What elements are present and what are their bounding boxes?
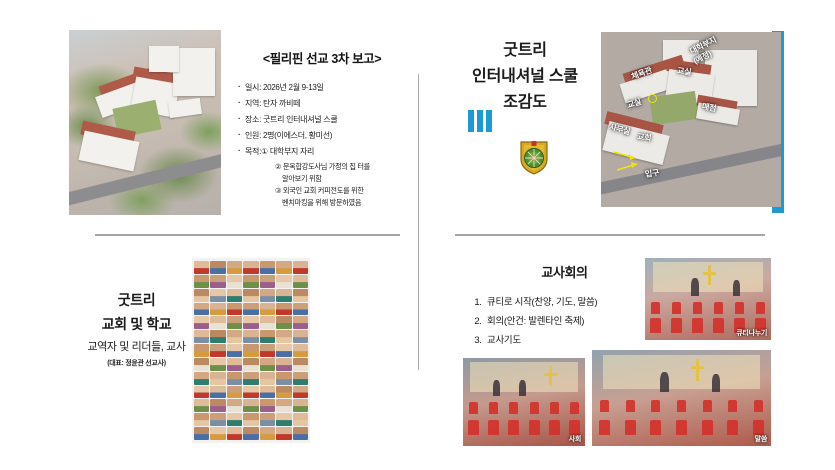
photo-social: 사회 — [463, 358, 585, 446]
photo-qt-sharing: 큐티나누기 — [645, 258, 771, 340]
church-school-heading: 굿트리 교회 및 학교 교역자 및 리더들, 교사 (대표: 정윤관 선교사) — [74, 288, 199, 371]
staff-photo-collage — [192, 258, 310, 443]
collage-face — [194, 261, 209, 274]
collage-face — [210, 399, 225, 412]
collage-face — [243, 386, 258, 399]
collage-face — [227, 330, 242, 343]
school-crest-icon — [519, 139, 549, 175]
collage-face — [194, 303, 209, 316]
collage-face — [243, 289, 258, 302]
presentation-slide: <필리핀 선교 3차 보고> 일시: 2026년 2월 9-13일 지역: 탄자… — [0, 0, 835, 470]
collage-face — [276, 316, 291, 329]
collage-face — [227, 358, 242, 371]
report-list: 일시: 2026년 2월 9-13일 지역: 탄자 까비떼 장소: 굿트리 인터… — [237, 81, 407, 159]
photo-caption-qt: 큐티나누기 — [736, 328, 767, 338]
teacher-meeting-steps: 큐티로 시작(찬양, 기도, 말씀) 회의(안건: 발렌타인 축제) 교사기도 — [462, 293, 667, 350]
collage-face — [243, 344, 258, 357]
collage-face — [227, 261, 242, 274]
horizontal-divider-left — [95, 234, 400, 236]
collage-face — [276, 344, 291, 357]
collage-face — [276, 303, 291, 316]
collage-face — [194, 316, 209, 329]
label-entrance: 입구 — [644, 167, 660, 180]
collage-face — [293, 358, 308, 371]
collage-face — [276, 261, 291, 274]
collage-face — [276, 358, 291, 371]
collage-face — [293, 344, 308, 357]
mission-report-block: <필리핀 선교 3차 보고> 일시: 2026년 2월 9-13일 지역: 탄자… — [237, 48, 407, 209]
collage-face — [260, 344, 275, 357]
report-item-place: 장소: 굿트리 인터내셔널 스쿨 — [237, 113, 407, 127]
church-heading-line-3: 교역자 및 리더들, 교사 — [74, 337, 199, 357]
collage-face — [243, 330, 258, 343]
collage-face — [293, 316, 308, 329]
campus-aerial-photo-left — [69, 30, 221, 215]
collage-face — [194, 386, 209, 399]
collage-face — [276, 386, 291, 399]
collage-face — [227, 427, 242, 440]
collage-face — [194, 413, 209, 426]
teacher-meeting-title: 교사회의 — [462, 262, 667, 281]
collage-face — [210, 330, 225, 343]
horizontal-divider-right — [455, 234, 765, 236]
teacher-meeting-block: 교사회의 큐티로 시작(찬양, 기도, 말씀) 회의(안건: 발렌타인 축제) … — [462, 262, 667, 350]
collage-face — [276, 372, 291, 385]
collage-face — [260, 330, 275, 343]
photo-caption-social: 사회 — [569, 434, 581, 444]
collage-face — [210, 275, 225, 288]
label-classroom-lower: 교실 — [626, 96, 643, 110]
purpose-sub-2: 알아보기 위함 — [237, 173, 407, 185]
collage-face — [276, 399, 291, 412]
collage-face — [260, 413, 275, 426]
collage-face — [243, 316, 258, 329]
school-title-block: 굿트리 인터내셔널 스쿨 조감도 — [440, 38, 610, 116]
collage-face — [227, 303, 242, 316]
collage-face — [260, 358, 275, 371]
collage-face — [243, 275, 258, 288]
collage-face — [276, 275, 291, 288]
collage-face — [260, 303, 275, 316]
collage-face — [276, 413, 291, 426]
collage-face — [243, 372, 258, 385]
collage-face — [194, 289, 209, 302]
collage-face — [260, 386, 275, 399]
collage-face — [260, 275, 275, 288]
collage-face — [210, 344, 225, 357]
collage-face — [293, 413, 308, 426]
collage-face — [210, 386, 225, 399]
collage-face — [227, 289, 242, 302]
label-classroom-upper: 교실 — [676, 65, 692, 78]
collage-face — [243, 303, 258, 316]
collage-face — [293, 289, 308, 302]
collage-face — [260, 399, 275, 412]
collage-face — [210, 289, 225, 302]
meeting-step-3: 교사기도 — [484, 331, 667, 350]
campus-aerial-photo-right: 대학부지 (예정) 체육관 교실 교실 매점 사무실 교회 입구 — [601, 32, 781, 207]
collage-face — [210, 413, 225, 426]
collage-face — [210, 372, 225, 385]
meeting-step-1: 큐티로 시작(찬양, 기도, 말씀) — [484, 293, 667, 312]
collage-face — [194, 372, 209, 385]
collage-face — [243, 358, 258, 371]
collage-face — [243, 413, 258, 426]
collage-face — [260, 289, 275, 302]
collage-face — [260, 316, 275, 329]
collage-face — [194, 275, 209, 288]
collage-face — [293, 386, 308, 399]
collage-face — [210, 261, 225, 274]
church-heading-line-2: 교회 및 학교 — [74, 312, 199, 336]
collage-face — [276, 330, 291, 343]
label-store: 매점 — [701, 101, 717, 114]
collage-face — [210, 316, 225, 329]
collage-face — [293, 303, 308, 316]
report-item-purpose: 목적:① 대학부지 자리 — [237, 145, 407, 159]
collage-face — [194, 427, 209, 440]
collage-face — [260, 427, 275, 440]
collage-face — [227, 275, 242, 288]
highlight-ring-icon — [648, 94, 657, 103]
bars-icon — [468, 110, 492, 132]
collage-face — [227, 372, 242, 385]
church-heading-line-1: 굿트리 — [74, 288, 199, 312]
collage-face — [243, 427, 258, 440]
church-heading-line-4: (대표: 정윤관 선교사) — [74, 357, 199, 371]
collage-face — [293, 399, 308, 412]
report-title: <필리핀 선교 3차 보고> — [237, 48, 407, 67]
collage-face — [293, 427, 308, 440]
collage-face — [210, 427, 225, 440]
school-title-line-2: 인터내셔널 스쿨 — [440, 64, 610, 90]
collage-face — [243, 399, 258, 412]
collage-face — [227, 316, 242, 329]
collage-face — [227, 399, 242, 412]
collage-face — [276, 427, 291, 440]
collage-face — [227, 344, 242, 357]
school-title-line-3: 조감도 — [440, 90, 610, 116]
collage-face — [194, 358, 209, 371]
collage-face — [293, 330, 308, 343]
collage-face — [243, 261, 258, 274]
report-item-region: 지역: 탄자 까비떼 — [237, 97, 407, 111]
purpose-sub-3: ③ 외국인 교회 커피전도를 위한 — [237, 185, 407, 197]
collage-face — [227, 413, 242, 426]
collage-face — [194, 330, 209, 343]
school-title-line-1: 굿트리 — [440, 38, 610, 64]
collage-face — [260, 372, 275, 385]
photo-caption-word: 말씀 — [755, 434, 767, 444]
collage-face — [293, 275, 308, 288]
meeting-step-2: 회의(안건: 발렌타인 축제) — [484, 312, 667, 331]
collage-face — [260, 261, 275, 274]
photo-word: 말씀 — [592, 350, 771, 446]
report-item-date: 일시: 2026년 2월 9-13일 — [237, 81, 407, 95]
purpose-sub-4: 벤치마킹을 위해 방문하였음 — [237, 197, 407, 209]
purpose-sub-1: ② 문옥합강도사님 가정의 집 터를 — [237, 161, 407, 173]
collage-face — [276, 289, 291, 302]
vertical-divider — [418, 74, 419, 370]
collage-face — [210, 358, 225, 371]
collage-face — [194, 399, 209, 412]
report-item-people: 인원: 2명(이에스더, 황미선) — [237, 129, 407, 143]
collage-face — [227, 386, 242, 399]
collage-face — [194, 344, 209, 357]
collage-face — [293, 261, 308, 274]
collage-grid — [194, 261, 308, 440]
label-church: 교회 — [636, 131, 652, 144]
collage-face — [210, 303, 225, 316]
collage-face — [293, 372, 308, 385]
